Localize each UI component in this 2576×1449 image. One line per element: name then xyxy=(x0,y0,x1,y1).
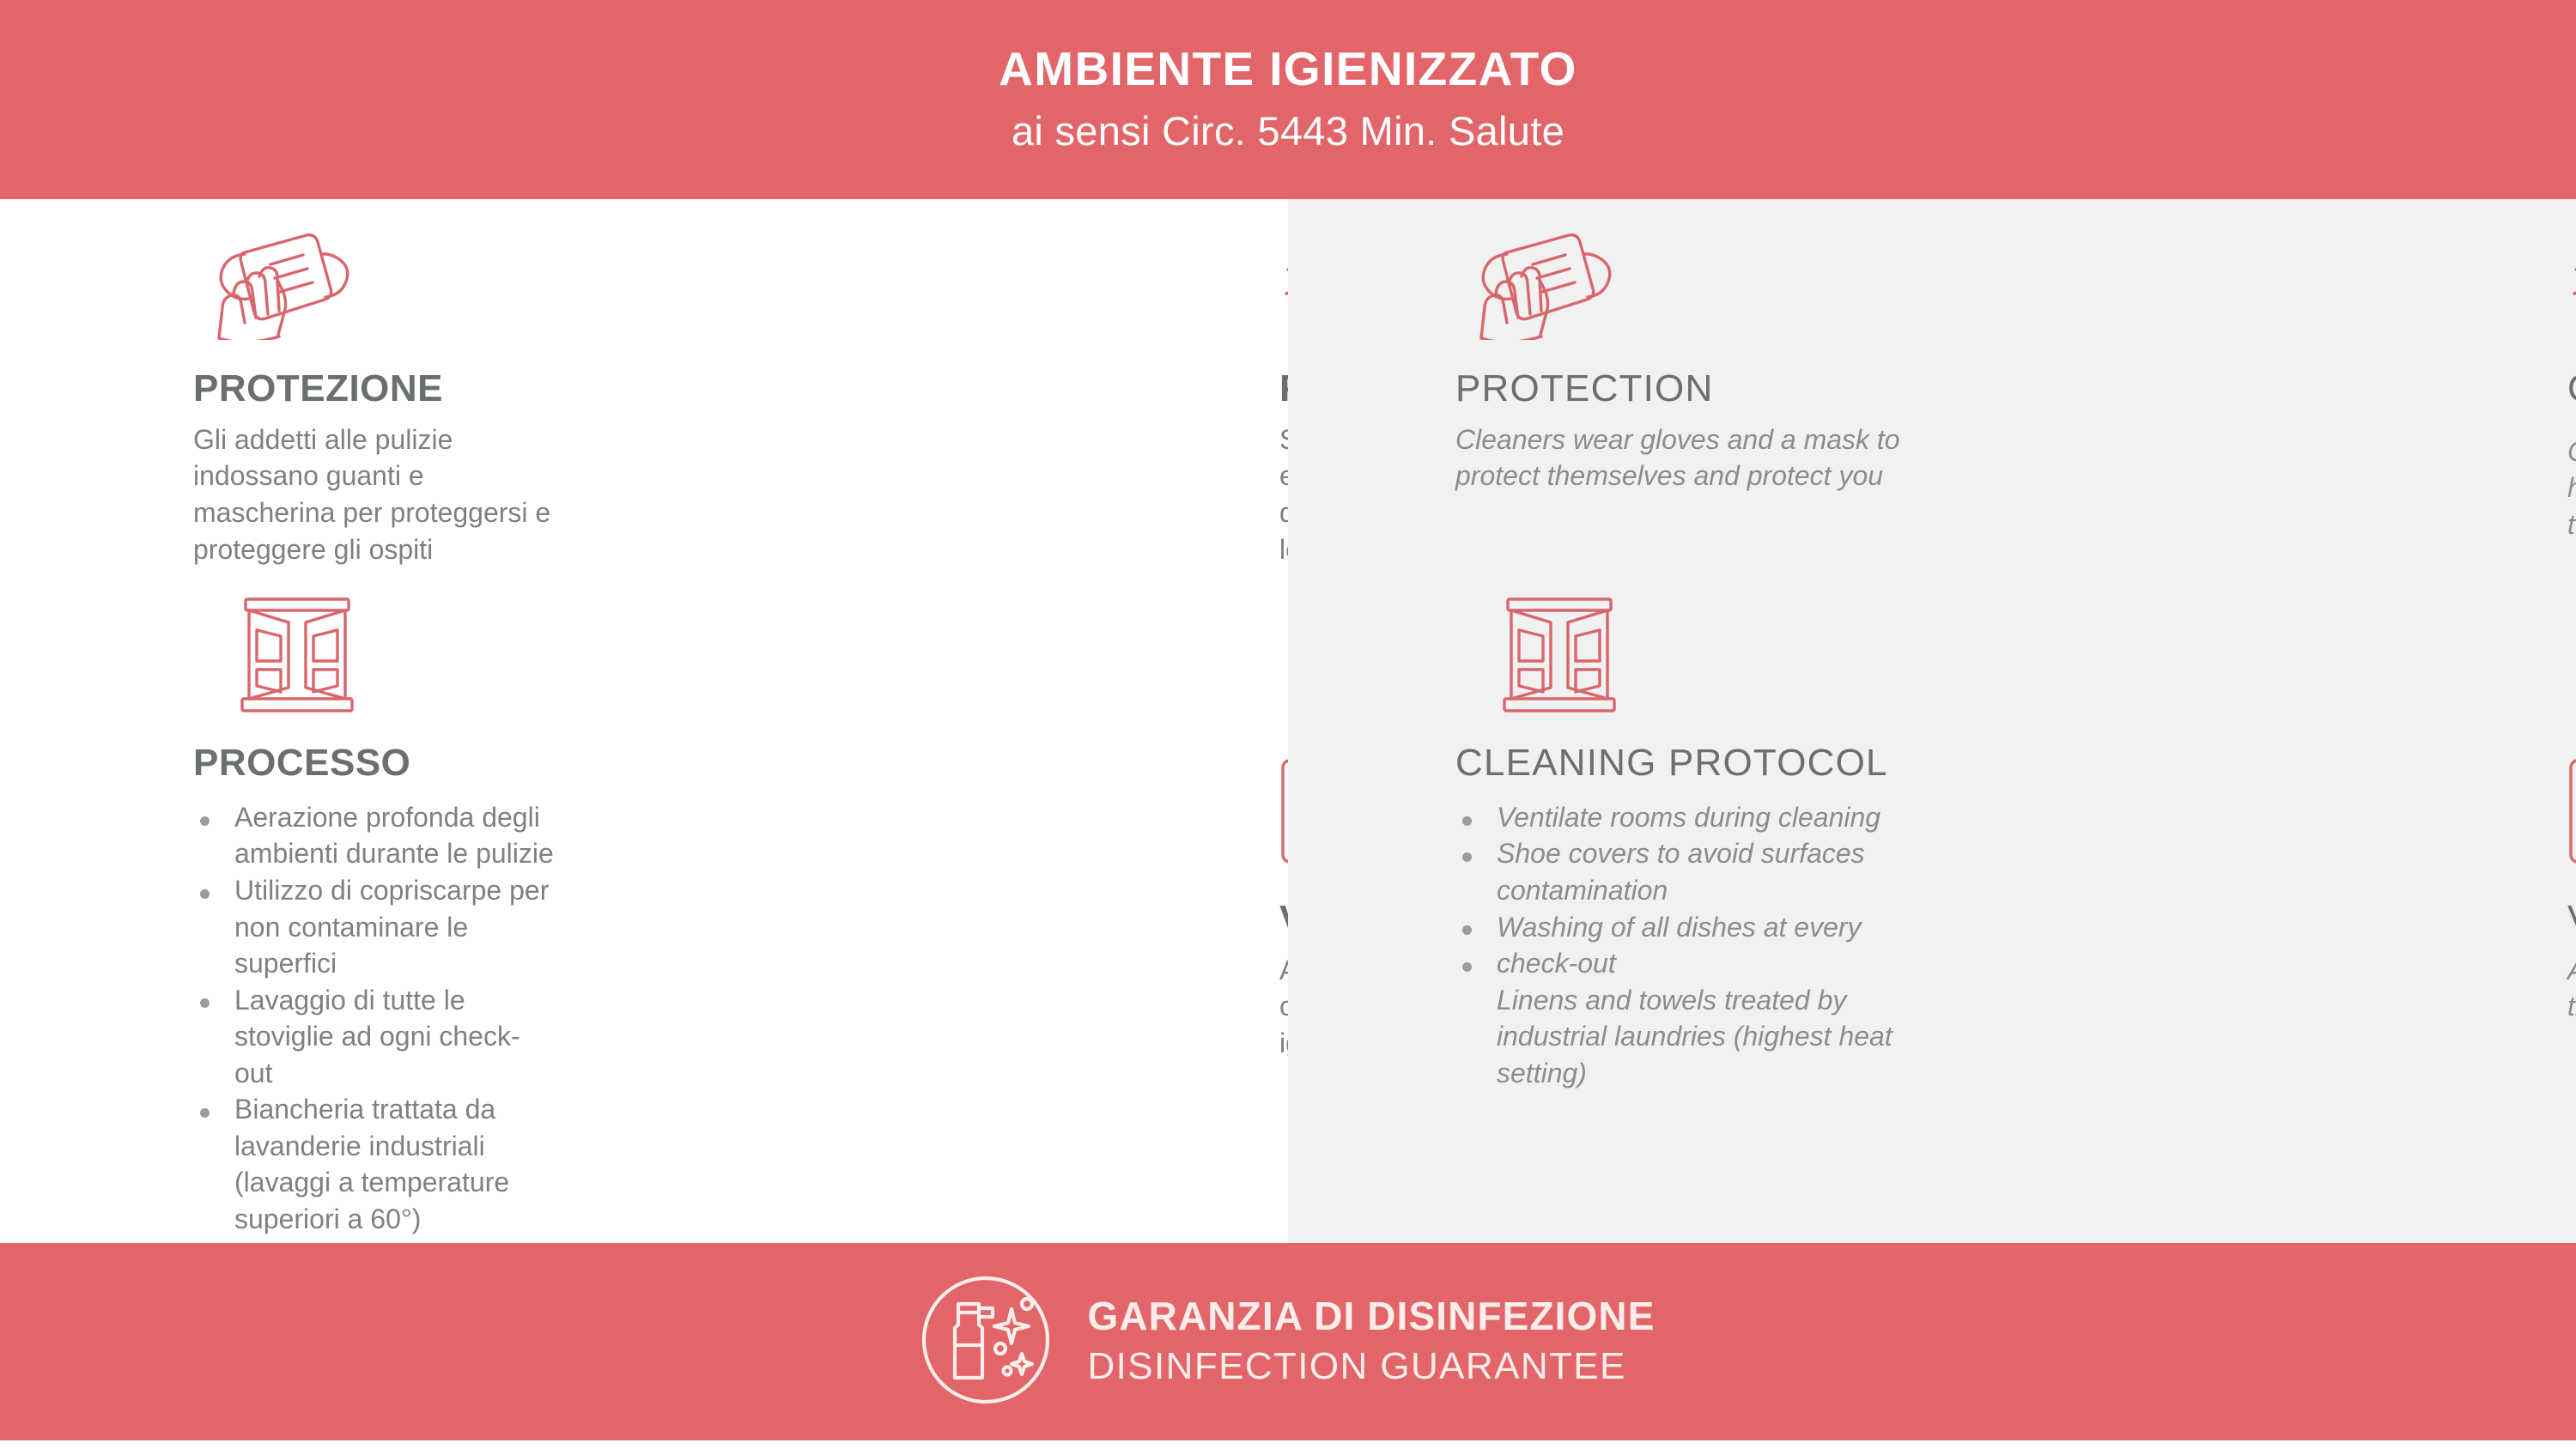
list-item: check-out xyxy=(1455,945,1919,982)
column-italian-right: PRODOTTI Sono utilizzati solo prodotti a… xyxy=(567,199,1288,1243)
footer-title-it: GARANZIA DI DISINFEZIONE xyxy=(1087,1294,1655,1339)
section-title: PROTEZIONE xyxy=(193,367,554,411)
list-item: Aerazione profonda degli ambienti durant… xyxy=(193,799,554,872)
list-item-text: Lavaggio di tutte le stoviglie ad ogni c… xyxy=(234,985,520,1088)
section-processo: PROCESSO Aerazione profonda degli ambien… xyxy=(193,596,554,1237)
list-item-text: Aerazione profonda degli ambienti durant… xyxy=(234,802,554,870)
bullet-dot xyxy=(1462,962,1472,972)
list-item: Ventilate rooms during cleaning xyxy=(1455,799,1919,836)
page-subtitle: ai sensi Circ. 5443 Min. Salute xyxy=(1012,108,1564,155)
list-item-text: Linens and towels treated by industrial … xyxy=(1497,985,1893,1088)
column-italian-left: PROTEZIONE Gli addetti alle pulizie indo… xyxy=(0,199,567,1243)
bullet-dot xyxy=(1462,925,1472,935)
list-item-text: Biancheria trattata da lavanderie indust… xyxy=(234,1094,509,1234)
section-title: CLEANING PROTOCOL xyxy=(1455,741,1919,785)
section-cleaning-products: CLEANING PRODUCTS Cleaning solutions are… xyxy=(2567,228,2576,543)
bullet-dot xyxy=(1462,816,1472,826)
footer-bottom-strip xyxy=(0,1440,2576,1449)
section-verification: VERIFICATION At the entrance, the guest … xyxy=(2567,757,2576,1025)
section-body: Cleaning solutions are ethanol and sodiu… xyxy=(2567,433,2576,543)
section-cleaning-protocol: CLEANING PROTOCOL Ventilate rooms during… xyxy=(1455,596,1919,1091)
bullet-dot xyxy=(200,1108,210,1118)
page-title: AMBIENTE IGIENIZZATO xyxy=(999,45,1577,94)
open-window-icon xyxy=(1455,596,1919,718)
cleaning-protocol-list: Ventilate rooms during cleaning Shoe cov… xyxy=(1455,799,1919,1091)
bullet-dot xyxy=(200,889,210,899)
bullet-dot xyxy=(200,816,210,826)
section-body: At the entrance, the guest will find a c… xyxy=(2567,952,2576,1025)
bullet-dot xyxy=(1462,852,1472,862)
section-title: PROTECTION xyxy=(1455,367,1902,411)
section-protezione: PROTEZIONE Gli addetti alle pulizie indo… xyxy=(193,228,554,567)
list-item: Shoe covers to avoid surfaces contaminat… xyxy=(1455,835,1919,908)
list-item: Utilizzo di copriscarpe per non contamin… xyxy=(193,872,554,982)
footer-title-en: DISINFECTION GUARANTEE xyxy=(1087,1344,1655,1389)
section-title: CLEANING PRODUCTS xyxy=(2567,367,2576,411)
spray-bottle-sparkle-icon xyxy=(920,1275,1051,1410)
footer-banner: GARANZIA DI DISINFEZIONE DISINFECTION GU… xyxy=(0,1243,2576,1440)
header-banner: AMBIENTE IGIENIZZATO ai sensi Circ. 5443… xyxy=(0,0,2576,199)
panel-english: PROTECTION Cleaners wear gloves and a ma… xyxy=(1288,199,2576,1243)
section-title: PROCESSO xyxy=(193,741,554,785)
list-item: Lavaggio di tutte le stoviglie ad ogni c… xyxy=(193,982,554,1092)
open-window-icon xyxy=(193,596,554,718)
list-item-text: check-out xyxy=(1497,948,1616,979)
list-item: Biancheria trattata da lavanderie indust… xyxy=(193,1091,554,1237)
hand-wiping-cloth-icon xyxy=(2567,228,2576,344)
list-item-text: Shoe covers to avoid surfaces contaminat… xyxy=(1497,838,1865,906)
list-item-text: Ventilate rooms during cleaning xyxy=(1497,802,1880,833)
bullet-dot xyxy=(200,998,210,1008)
list-item-text: Washing of all dishes at every xyxy=(1497,912,1862,943)
section-body: Cleaners wear gloves and a mask to prote… xyxy=(1455,421,1902,494)
certificate-card-icon xyxy=(2567,757,2576,875)
section-body: Gli addetti alle pulizie indossano guant… xyxy=(193,421,554,567)
list-item: Washing of all dishes at every xyxy=(1455,909,1919,946)
list-item: Linens and towels treated by industrial … xyxy=(1455,982,1919,1092)
processo-list: Aerazione profonda degli ambienti durant… xyxy=(193,799,554,1238)
section-protection: PROTECTION Cleaners wear gloves and a ma… xyxy=(1455,228,1902,494)
gloves-mask-icon xyxy=(193,228,554,344)
content-board: PROTEZIONE Gli addetti alle pulizie indo… xyxy=(0,199,2576,1243)
column-english-right: CLEANING PRODUCTS Cleaning solutions are… xyxy=(1855,199,2576,1243)
list-item-text: Utilizzo di copriscarpe per non contamin… xyxy=(234,875,549,979)
section-title: VERIFICATION xyxy=(2567,897,2576,942)
gloves-mask-icon xyxy=(1455,228,1902,344)
column-english-left: PROTECTION Cleaners wear gloves and a ma… xyxy=(1288,199,1855,1243)
panel-italian: PROTEZIONE Gli addetti alle pulizie indo… xyxy=(0,199,1288,1243)
